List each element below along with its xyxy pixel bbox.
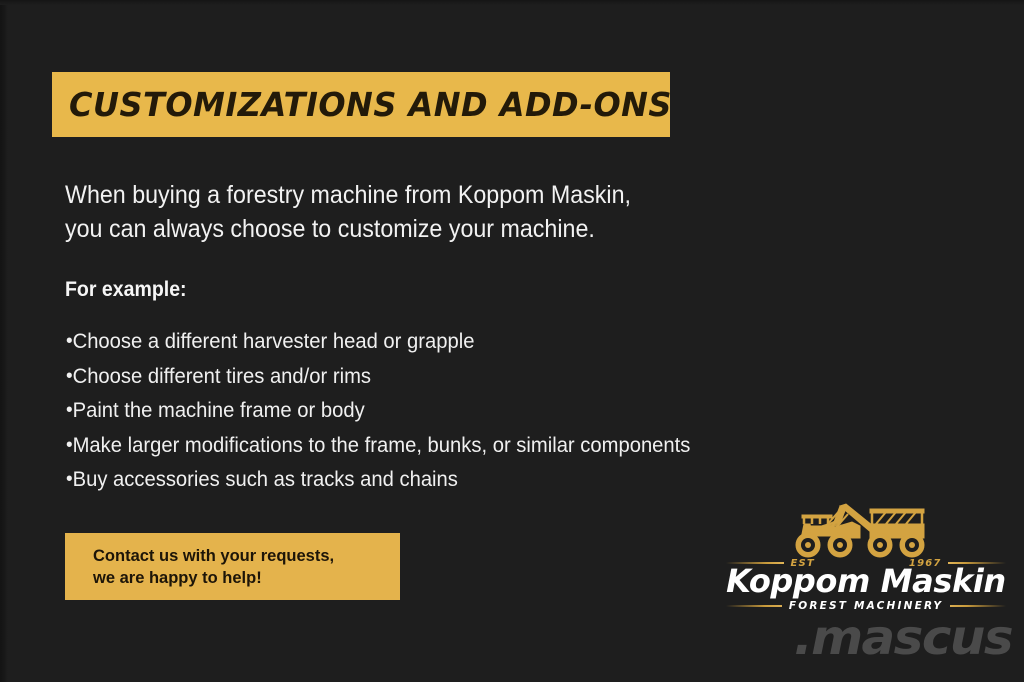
logo-tagline-rule-left: [726, 605, 782, 607]
feature-bullet-list: •Choose a different harvester head or gr…: [66, 324, 818, 497]
list-item-label: Paint the machine frame or body: [73, 398, 365, 422]
company-logo: EST 1967 Koppom Maskin FOREST MACHINERY: [726, 500, 1006, 612]
list-item-label: Choose different tires and/or rims: [73, 364, 371, 388]
example-label: For example:: [65, 278, 187, 302]
list-item-label: Make larger modifications to the frame, …: [73, 433, 691, 457]
bullet-dot-icon: •: [66, 469, 73, 489]
intro-line-2: you can always choose to customize your …: [65, 212, 772, 246]
page-title: CUSTOMIZATIONS AND ADD-ONS: [69, 88, 672, 121]
logo-company-name: Koppom Maskin: [726, 564, 1006, 598]
list-item: •Choose different tires and/or rims: [66, 359, 818, 394]
slide-canvas: CUSTOMIZATIONS AND ADD-ONS When buying a…: [0, 0, 1024, 682]
forestry-forwarder-icon: [774, 500, 934, 562]
logo-tagline-rule-right: [950, 605, 1006, 607]
intro-paragraph: When buying a forestry machine from Kopp…: [65, 178, 772, 246]
bullet-dot-icon: •: [66, 435, 73, 455]
bullet-dot-icon: •: [66, 366, 73, 386]
contact-line-2: we are happy to help!: [93, 567, 400, 589]
list-item: •Make larger modifications to the frame,…: [66, 428, 818, 463]
list-item: •Paint the machine frame or body: [66, 393, 818, 428]
list-item-label: Buy accessories such as tracks and chain…: [73, 467, 458, 491]
mascus-watermark: .mascus: [733, 612, 1012, 664]
contact-callout-box[interactable]: Contact us with your requests, we are ha…: [65, 533, 400, 600]
list-item: •Buy accessories such as tracks and chai…: [66, 462, 818, 497]
contact-line-1: Contact us with your requests,: [93, 545, 400, 567]
list-item: •Choose a different harvester head or gr…: [66, 324, 818, 359]
header-banner: CUSTOMIZATIONS AND ADD-ONS: [52, 72, 670, 137]
bullet-dot-icon: •: [66, 400, 73, 420]
bullet-dot-icon: •: [66, 331, 73, 351]
intro-line-1: When buying a forestry machine from Kopp…: [65, 178, 772, 212]
list-item-label: Choose a different harvester head or gra…: [73, 329, 475, 353]
